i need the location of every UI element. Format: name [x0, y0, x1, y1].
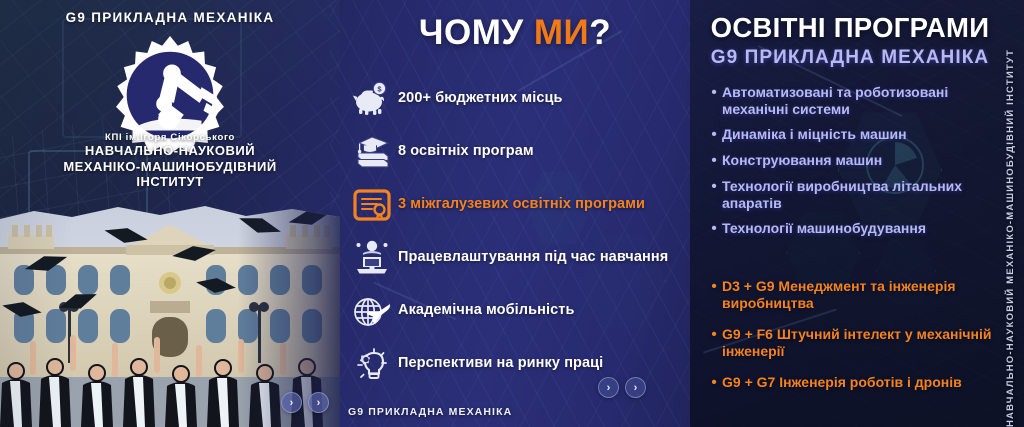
lightbulb-gear-icon: [346, 341, 398, 387]
institute-vertical-label: НАВЧАЛЬНО-НАУКОВИЙ МЕХАНІКО-МАШИНОБУДІВН…: [998, 0, 1022, 427]
why-us-heading: ЧОМУ МИ?: [340, 13, 690, 53]
program-label: Динаміка і міцність машин: [722, 126, 907, 143]
institute-name-block: КПІ ім.Ігоря Сікорського НАВЧАЛЬНО-НАУКО…: [0, 132, 340, 190]
why-us-heading-main: ЧОМУ: [419, 13, 534, 52]
bullet-icon: •: [706, 278, 722, 295]
person-laptop-icon: [346, 235, 398, 281]
program-label: G9 + G7 Інженерія роботів і дронів: [722, 374, 962, 391]
slide-canvas: G9 ПРИКЛАДНА МЕХАНІКА: [0, 0, 1024, 427]
photo-nav-prev-button[interactable]: ›: [281, 392, 302, 413]
bullet-icon: •: [706, 84, 722, 101]
center-nav-prev-button[interactable]: ›: [598, 377, 619, 398]
program-label: D3 + G9 Менеджмент та інженерія виробниц…: [722, 278, 1006, 311]
program-list-item: • Технології виробництва літальних апара…: [706, 178, 1006, 211]
primary-programs-list: • Автоматизовані та роботизовані механіч…: [706, 84, 1006, 246]
bullet-icon: •: [706, 152, 722, 169]
bullet-icon: •: [706, 326, 722, 343]
globe-airplane-icon: [346, 288, 398, 334]
graduation-books-icon: [346, 129, 398, 175]
bullet-icon: •: [706, 220, 722, 237]
program-list-item: • G9 + G7 Інженерія роботів і дронів: [706, 374, 1006, 391]
program-list-item: • Технології машинобудування: [706, 220, 1006, 237]
center-nav-next-button[interactable]: ›: [625, 377, 646, 398]
feature-item: Академічна мобільність: [346, 284, 690, 337]
chevron-right-icon: ›: [317, 397, 321, 409]
bullet-icon: •: [706, 178, 722, 195]
feature-item: $ 200+ бюджетних місць: [346, 72, 690, 125]
university-line: КПІ ім.Ігоря Сікорського: [0, 132, 340, 143]
program-code-title: G9 ПРИКЛАДНА МЕХАНІКА: [0, 10, 340, 25]
program-label: Автоматизовані та роботизовані механічні…: [722, 84, 1006, 117]
right-column: ОСВІТНІ ПРОГРАМИ G9 ПРИКЛАДНА МЕХАНІКА •…: [690, 0, 1024, 427]
feature-label: 200+ бюджетних місць: [398, 90, 563, 107]
photo-nav-next-button[interactable]: ›: [308, 392, 329, 413]
certificate-icon: [346, 182, 398, 228]
chevron-right-icon: ›: [607, 382, 611, 394]
institute-line-1: НАВЧАЛЬНО-НАУКОВИЙ: [0, 143, 340, 159]
program-list-item: • Динаміка і міцність машин: [706, 126, 1006, 143]
program-label: Технології виробництва літальних апараті…: [722, 178, 1006, 211]
feature-label: Працевлаштування під час навчання: [398, 249, 668, 266]
program-list-item: • Автоматизовані та роботизовані механіч…: [706, 84, 1006, 117]
dual-degree-programs-list: • D3 + G9 Менеджмент та інженерія виробн…: [706, 278, 1006, 406]
why-us-heading-tail: ?: [589, 13, 611, 52]
bullet-icon: •: [706, 126, 722, 143]
center-nav-group: › ›: [598, 377, 646, 398]
bullet-icon: •: [706, 374, 722, 391]
program-label: Конструювання машин: [722, 152, 882, 169]
program-label: Технології машинобудування: [722, 220, 926, 237]
feature-item: 8 освітніх програм: [346, 125, 690, 178]
feature-item: 3 міжгалузевих освітніх програми: [346, 178, 690, 231]
chevron-right-icon: ›: [290, 397, 294, 409]
feature-list: $ 200+ бюджетних місць: [346, 72, 690, 390]
center-column: ЧОМУ МИ?: [340, 0, 690, 427]
chevron-right-icon: ›: [634, 382, 638, 394]
graduates-photo: › ›: [0, 201, 340, 427]
institute-line-3: ІНСТИТУТ: [0, 174, 340, 190]
why-us-heading-accent: МИ: [534, 13, 589, 52]
feature-label: Академічна мобільність: [398, 302, 574, 319]
institute-vertical-text: НАВЧАЛЬНО-НАУКОВИЙ МЕХАНІКО-МАШИНОБУДІВН…: [1005, 43, 1016, 427]
center-footer-label: G9 ПРИКЛАДНА МЕХАНІКА: [348, 406, 512, 418]
feature-label: 8 освітніх програм: [398, 143, 534, 160]
institute-line-2: МЕХАНІКО-МАШИНОБУДІВНИЙ: [0, 159, 340, 175]
program-list-item: • Конструювання машин: [706, 152, 1006, 169]
program-list-item: • D3 + G9 Менеджмент та інженерія виробн…: [706, 278, 1006, 311]
programs-heading: ОСВІТНІ ПРОГРАМИ: [690, 12, 1010, 44]
programs-subheading: G9 ПРИКЛАДНА МЕХАНІКА: [690, 47, 1010, 69]
left-column: G9 ПРИКЛАДНА МЕХАНІКА: [0, 0, 340, 427]
feature-item: Працевлаштування під час навчання: [346, 231, 690, 284]
program-list-item: • G9 + F6 Штучний інтелект у механічній …: [706, 326, 1006, 359]
feature-label: Перспективи на ринку праці: [398, 355, 603, 372]
feature-label: 3 міжгалузевих освітніх програми: [398, 196, 645, 213]
piggy-bank-icon: $: [346, 76, 398, 122]
program-label: G9 + F6 Штучний інтелект у механічній ін…: [722, 326, 1006, 359]
